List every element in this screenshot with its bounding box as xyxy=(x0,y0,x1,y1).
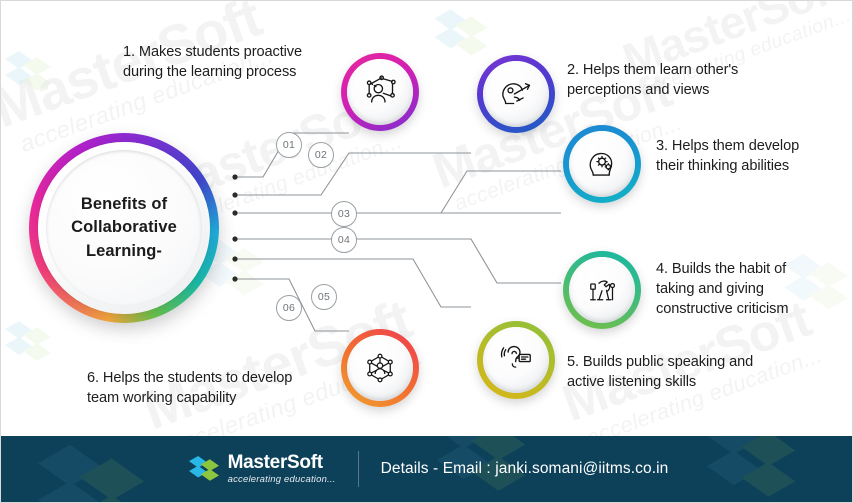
benefit-caption-3: 3. Helps them develop their thinking abi… xyxy=(656,137,846,177)
hub-title-line-2: Collaborative xyxy=(71,216,177,239)
index-badge-02: 02 xyxy=(308,142,334,168)
caption-line: 1. Makes students proactive xyxy=(123,43,353,63)
benefit-node-2[interactable] xyxy=(477,55,555,133)
index-badge-label: 01 xyxy=(283,139,295,151)
node-face xyxy=(347,59,413,125)
mastersoft-logo-icon xyxy=(187,454,221,484)
index-badge-label: 04 xyxy=(338,234,350,246)
caption-line: constructive criticism xyxy=(656,300,846,320)
caption-line: 6. Helps the students to develop xyxy=(87,369,347,389)
node-face xyxy=(347,335,413,401)
index-badge-06: 06 xyxy=(276,295,302,321)
index-badge-label: 02 xyxy=(315,149,327,161)
index-badge-04: 04 xyxy=(331,227,357,253)
index-badge-03: 03 xyxy=(331,201,357,227)
tools-icon xyxy=(584,272,620,308)
caption-line: 3. Helps them develop xyxy=(656,137,846,157)
caption-line: team working capability xyxy=(87,389,347,409)
page-title: Benefits of Collaborative Learning- xyxy=(29,133,219,323)
caption-line: active listening skills xyxy=(567,373,827,393)
caption-line: taking and giving xyxy=(656,280,846,300)
infographic-canvas: MasterSoft accelerating education... Mas… xyxy=(0,0,853,503)
index-badge-05: 05 xyxy=(311,284,337,310)
benefit-node-5[interactable] xyxy=(477,321,555,399)
team-network-icon xyxy=(361,349,399,387)
benefit-node-4[interactable] xyxy=(563,251,641,329)
benefit-caption-2: 2. Helps them learn other's perceptions … xyxy=(567,61,817,101)
caption-line: 5. Builds public speaking and xyxy=(567,353,827,373)
footer-contact-details: Details - Email : janki.somani@iitms.co.… xyxy=(381,460,669,478)
node-face xyxy=(569,131,635,197)
benefit-node-6[interactable] xyxy=(341,329,419,407)
index-badge-label: 03 xyxy=(338,208,350,220)
node-face xyxy=(483,327,549,393)
node-face xyxy=(483,61,549,127)
benefit-caption-6: 6. Helps the students to develop team wo… xyxy=(87,369,347,409)
hub-title-line-1: Benefits of xyxy=(71,193,177,216)
ear-listening-icon xyxy=(497,341,535,379)
benefit-caption-4: 4. Builds the habit of taking and giving… xyxy=(656,260,846,320)
footer-divider xyxy=(358,451,359,487)
footer-brand: MasterSoft accelerating education... xyxy=(187,453,336,485)
hub-title-line-3: Learning- xyxy=(71,240,177,263)
footer-brand-name: MasterSoft xyxy=(228,453,336,472)
caption-line: 2. Helps them learn other's xyxy=(567,61,817,81)
index-badge-label: 06 xyxy=(283,302,295,314)
head-gears-icon xyxy=(583,145,621,183)
footer-brand-tagline: accelerating education... xyxy=(228,475,336,485)
benefit-caption-5: 5. Builds public speaking and active lis… xyxy=(567,353,827,393)
central-hub: Benefits of Collaborative Learning- xyxy=(29,133,229,333)
benefit-caption-1: 1. Makes students proactive during the l… xyxy=(123,43,353,83)
person-network-icon xyxy=(360,72,400,112)
caption-line: their thinking abilities xyxy=(656,157,846,177)
benefit-node-3[interactable] xyxy=(563,125,641,203)
caption-line: during the learning process xyxy=(123,63,353,83)
index-badge-01: 01 xyxy=(276,132,302,158)
node-face xyxy=(569,257,635,323)
head-perception-icon xyxy=(497,75,535,113)
footer-bar: MasterSoft accelerating education... Det… xyxy=(1,436,853,502)
index-badge-label: 05 xyxy=(318,291,330,303)
caption-line: perceptions and views xyxy=(567,81,817,101)
caption-line: 4. Builds the habit of xyxy=(656,260,846,280)
